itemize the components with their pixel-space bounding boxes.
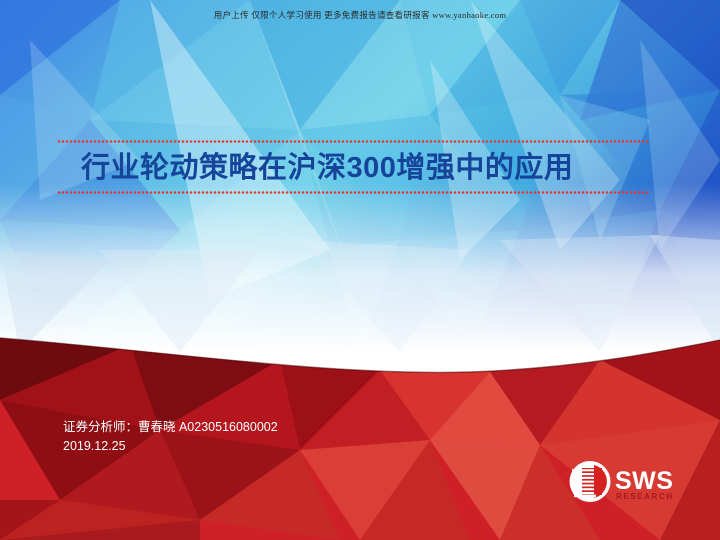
sws-logo-mark [570,461,611,502]
analyst-name-and-license: 证券分析师：曹春晓 A0230516080002 [63,418,278,437]
title-block: 行业轮动策略在沪深300增强中的应用 [57,140,649,194]
watermark-text: 用户上传 仅限个人学习使用 更多免费报告请查看研报客 www.yanbaoke.… [0,9,720,21]
page-title: 行业轮动策略在沪深300增强中的应用 [57,143,649,191]
sws-logo: SWS RESEARCH [568,459,686,505]
sws-wordmark: SWS [615,467,673,495]
title-rule-bottom [57,191,649,194]
sws-subtitle: RESEARCH [616,492,674,501]
analyst-block: 证券分析师：曹春晓 A0230516080002 2019.12.25 [63,418,278,456]
publish-date: 2019.12.25 [63,437,278,456]
slide-canvas: 用户上传 仅限个人学习使用 更多免费报告请查看研报客 www.yanbaoke.… [0,0,720,540]
